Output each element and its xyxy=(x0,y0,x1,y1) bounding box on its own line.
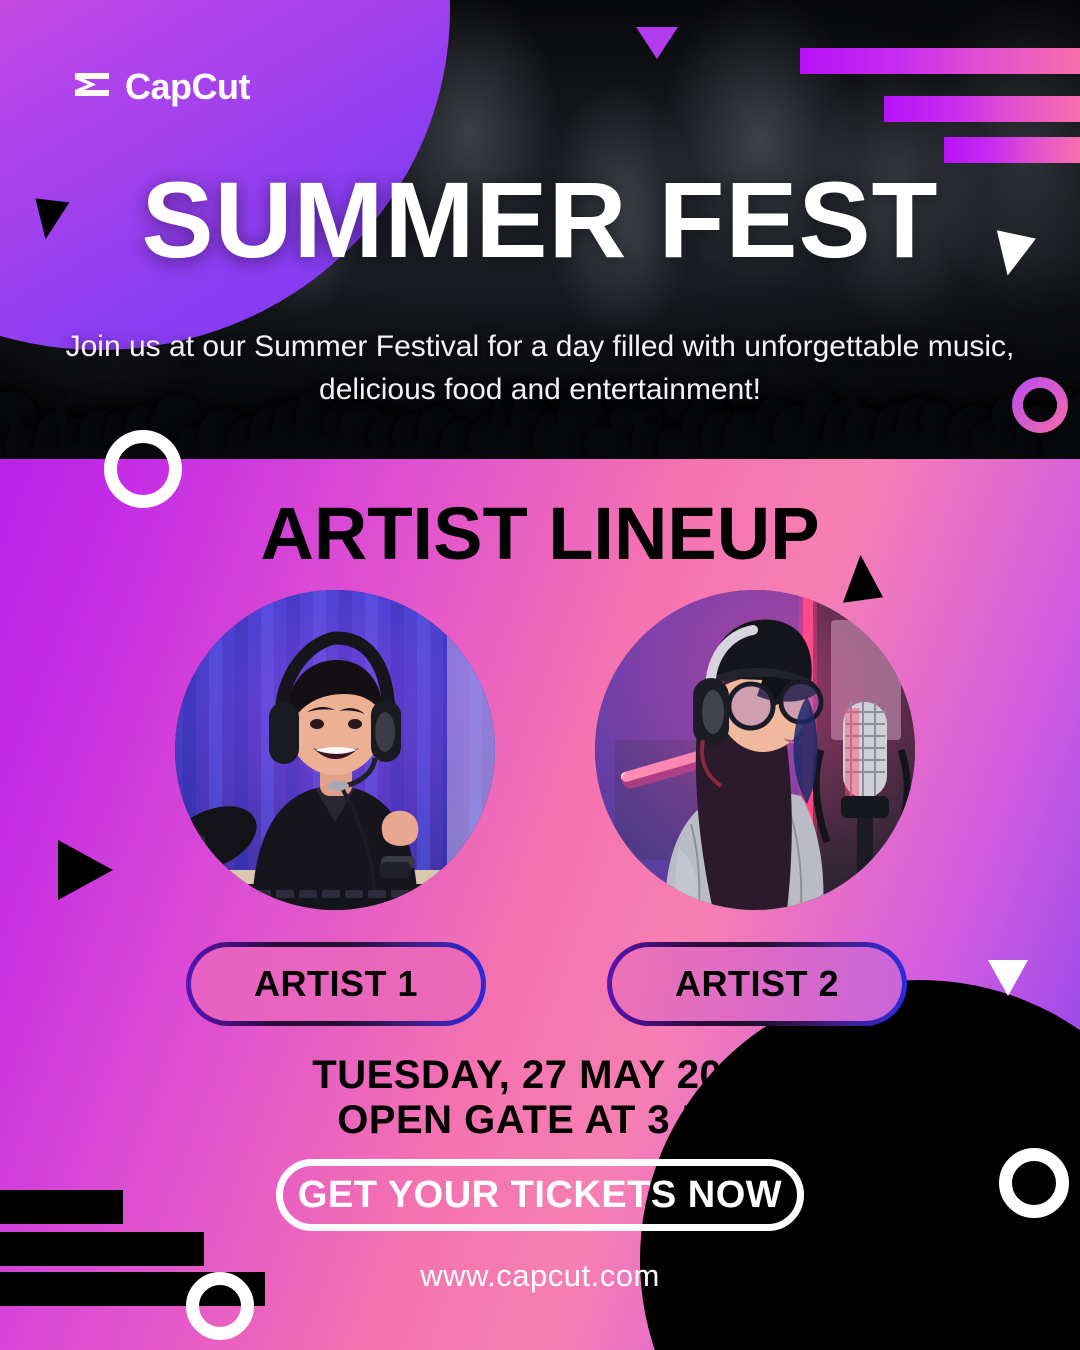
artist-2-button[interactable]: ARTIST 2 xyxy=(607,942,907,1026)
capcut-x-logo-icon xyxy=(72,70,112,104)
page-title: SUMMER FEST xyxy=(0,166,1080,274)
event-date: TUESDAY, 27 MAY 2024 xyxy=(0,1053,1080,1098)
artist-2-button-inner: ARTIST 2 xyxy=(612,947,902,1021)
poster-canvas: CapCut SUMMER FEST Join us at our Summer… xyxy=(0,0,1080,1350)
decor-gradient-ring xyxy=(1012,377,1068,433)
artist-1-photo xyxy=(175,590,495,910)
decor-gradient-bar-3 xyxy=(944,137,1080,163)
decor-triangle-top-purple xyxy=(636,27,678,59)
decor-black-bar-1 xyxy=(0,1190,123,1224)
website-url[interactable]: www.capcut.com xyxy=(0,1258,1080,1294)
header-subtitle: Join us at our Summer Festival for a day… xyxy=(64,326,1016,411)
artist-1-button[interactable]: ARTIST 1 xyxy=(186,942,486,1026)
capcut-logo-text: CapCut xyxy=(125,66,250,108)
event-time: OPEN GATE AT 3 PM xyxy=(0,1098,1080,1143)
artist-2-photo xyxy=(595,590,915,910)
get-tickets-label: GET YOUR TICKETS NOW xyxy=(298,1174,782,1217)
artist-1-button-inner: ARTIST 1 xyxy=(191,947,481,1021)
decor-ring-white-bottom-right xyxy=(999,1148,1069,1218)
capcut-logo[interactable]: CapCut xyxy=(72,66,250,108)
artist-2-label: ARTIST 2 xyxy=(675,963,839,1005)
decor-gradient-bar-1 xyxy=(800,48,1080,74)
decor-triangle-play-icon xyxy=(58,840,113,900)
decor-triangle-down-white xyxy=(988,960,1028,996)
artist-1-label: ARTIST 1 xyxy=(254,963,418,1005)
lineup-heading: ARTIST LINEUP xyxy=(0,497,1080,571)
decor-gradient-bar-2 xyxy=(884,96,1080,122)
get-tickets-button[interactable]: GET YOUR TICKETS NOW xyxy=(276,1159,804,1231)
